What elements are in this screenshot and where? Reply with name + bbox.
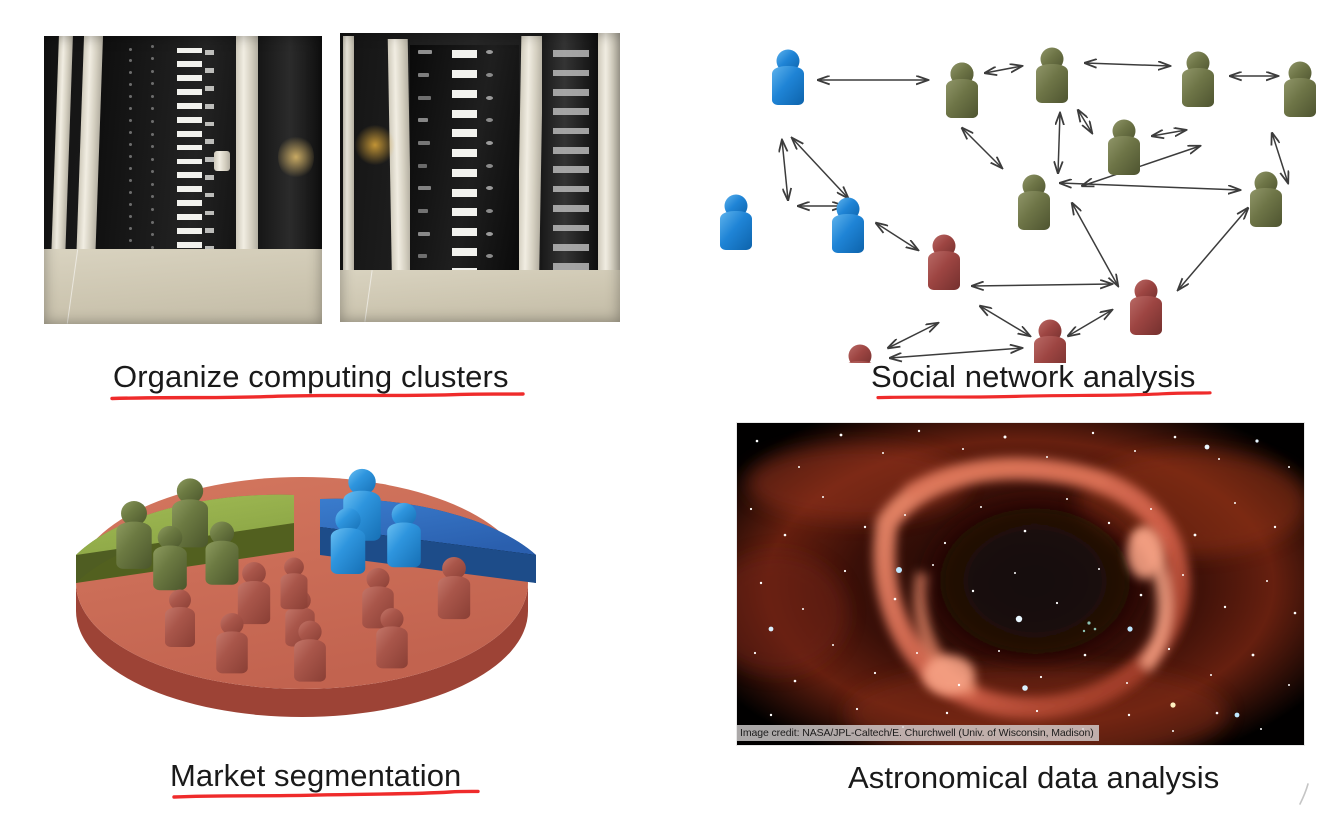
image-credit-overlay: Image credit: NASA/JPL-Caltech/E. Church…: [737, 725, 1099, 741]
caption-market-segmentation: Market segmentation: [170, 758, 461, 794]
stray-pen-mark: [1297, 782, 1311, 806]
social-network-diagram: [700, 18, 1329, 363]
slide-canvas: Organize computing clusters: [0, 0, 1329, 820]
network-node-blue-1: [772, 50, 804, 106]
network-node-olive-5: [1108, 120, 1140, 176]
network-node-blue-2: [720, 195, 752, 251]
server-rack-photo-right: [340, 33, 620, 322]
network-node-red-1: [928, 235, 960, 291]
network-node-olive-8: [946, 63, 978, 119]
server-rack-photo-left: [44, 36, 322, 324]
network-node-olive-7: [1250, 172, 1282, 228]
caption-computing-clusters: Organize computing clusters: [113, 359, 509, 395]
market-segmentation-pie-chart: [62, 415, 542, 745]
network-node-olive-6: [1018, 175, 1050, 231]
network-node-olive-2: [1036, 48, 1068, 104]
network-node-red-4: [1130, 280, 1162, 336]
caption-astronomical-data: Astronomical data analysis: [848, 760, 1219, 796]
astronomy-image: Image credit: NASA/JPL-Caltech/E. Church…: [736, 422, 1305, 746]
network-node-olive-4: [1284, 62, 1316, 118]
network-node-olive-3: [1182, 52, 1214, 108]
network-node-red-3: [1034, 320, 1066, 364]
caption-social-network: Social network analysis: [871, 359, 1196, 395]
